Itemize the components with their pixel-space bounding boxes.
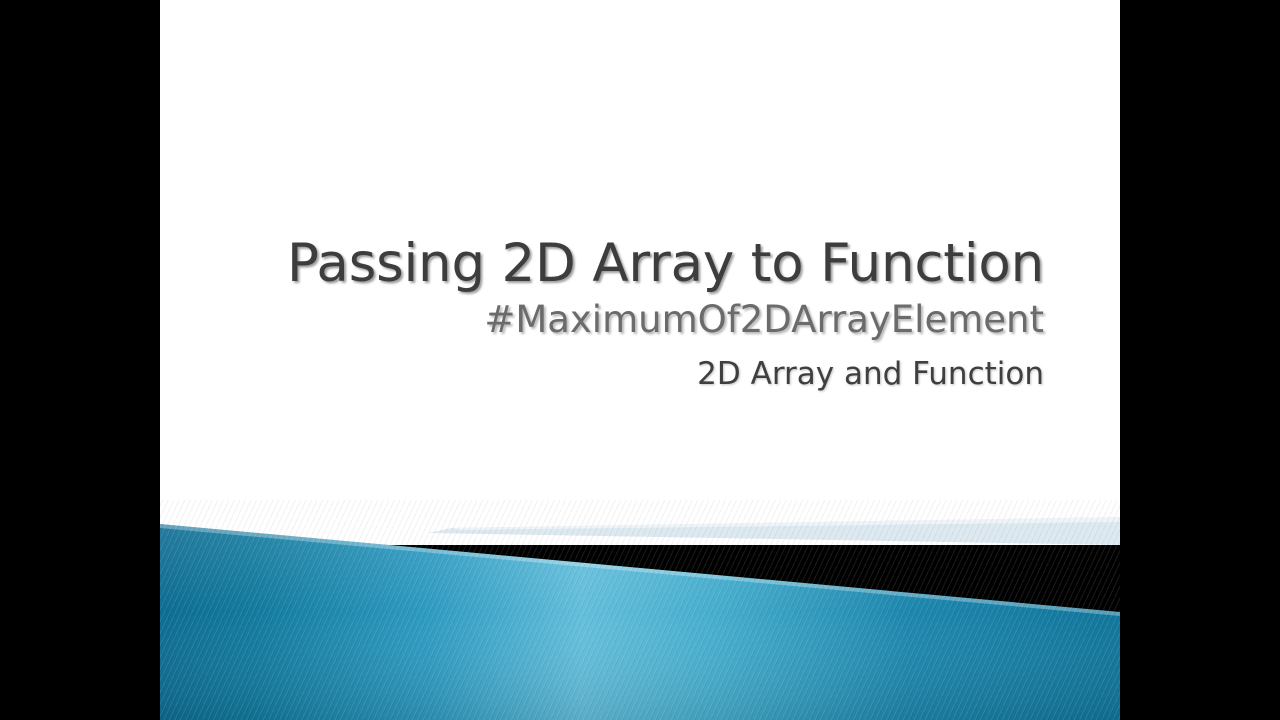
teal-wave-shape [160, 500, 1120, 720]
letterbox-bar-left [0, 0, 160, 720]
slide-subtitle-hashtag: #MaximumOf2DArrayElement [160, 298, 1044, 342]
slide-tagline: 2D Array and Function [160, 356, 1044, 393]
title-text-block: Passing 2D Array to Function #MaximumOf2… [160, 236, 1044, 393]
presentation-slide: Passing 2D Array to Function #MaximumOf2… [160, 0, 1120, 720]
slide-viewport: Passing 2D Array to Function #MaximumOf2… [0, 0, 1280, 720]
letterbox-bar-right [1120, 0, 1280, 720]
slide-title: Passing 2D Array to Function [160, 236, 1044, 292]
